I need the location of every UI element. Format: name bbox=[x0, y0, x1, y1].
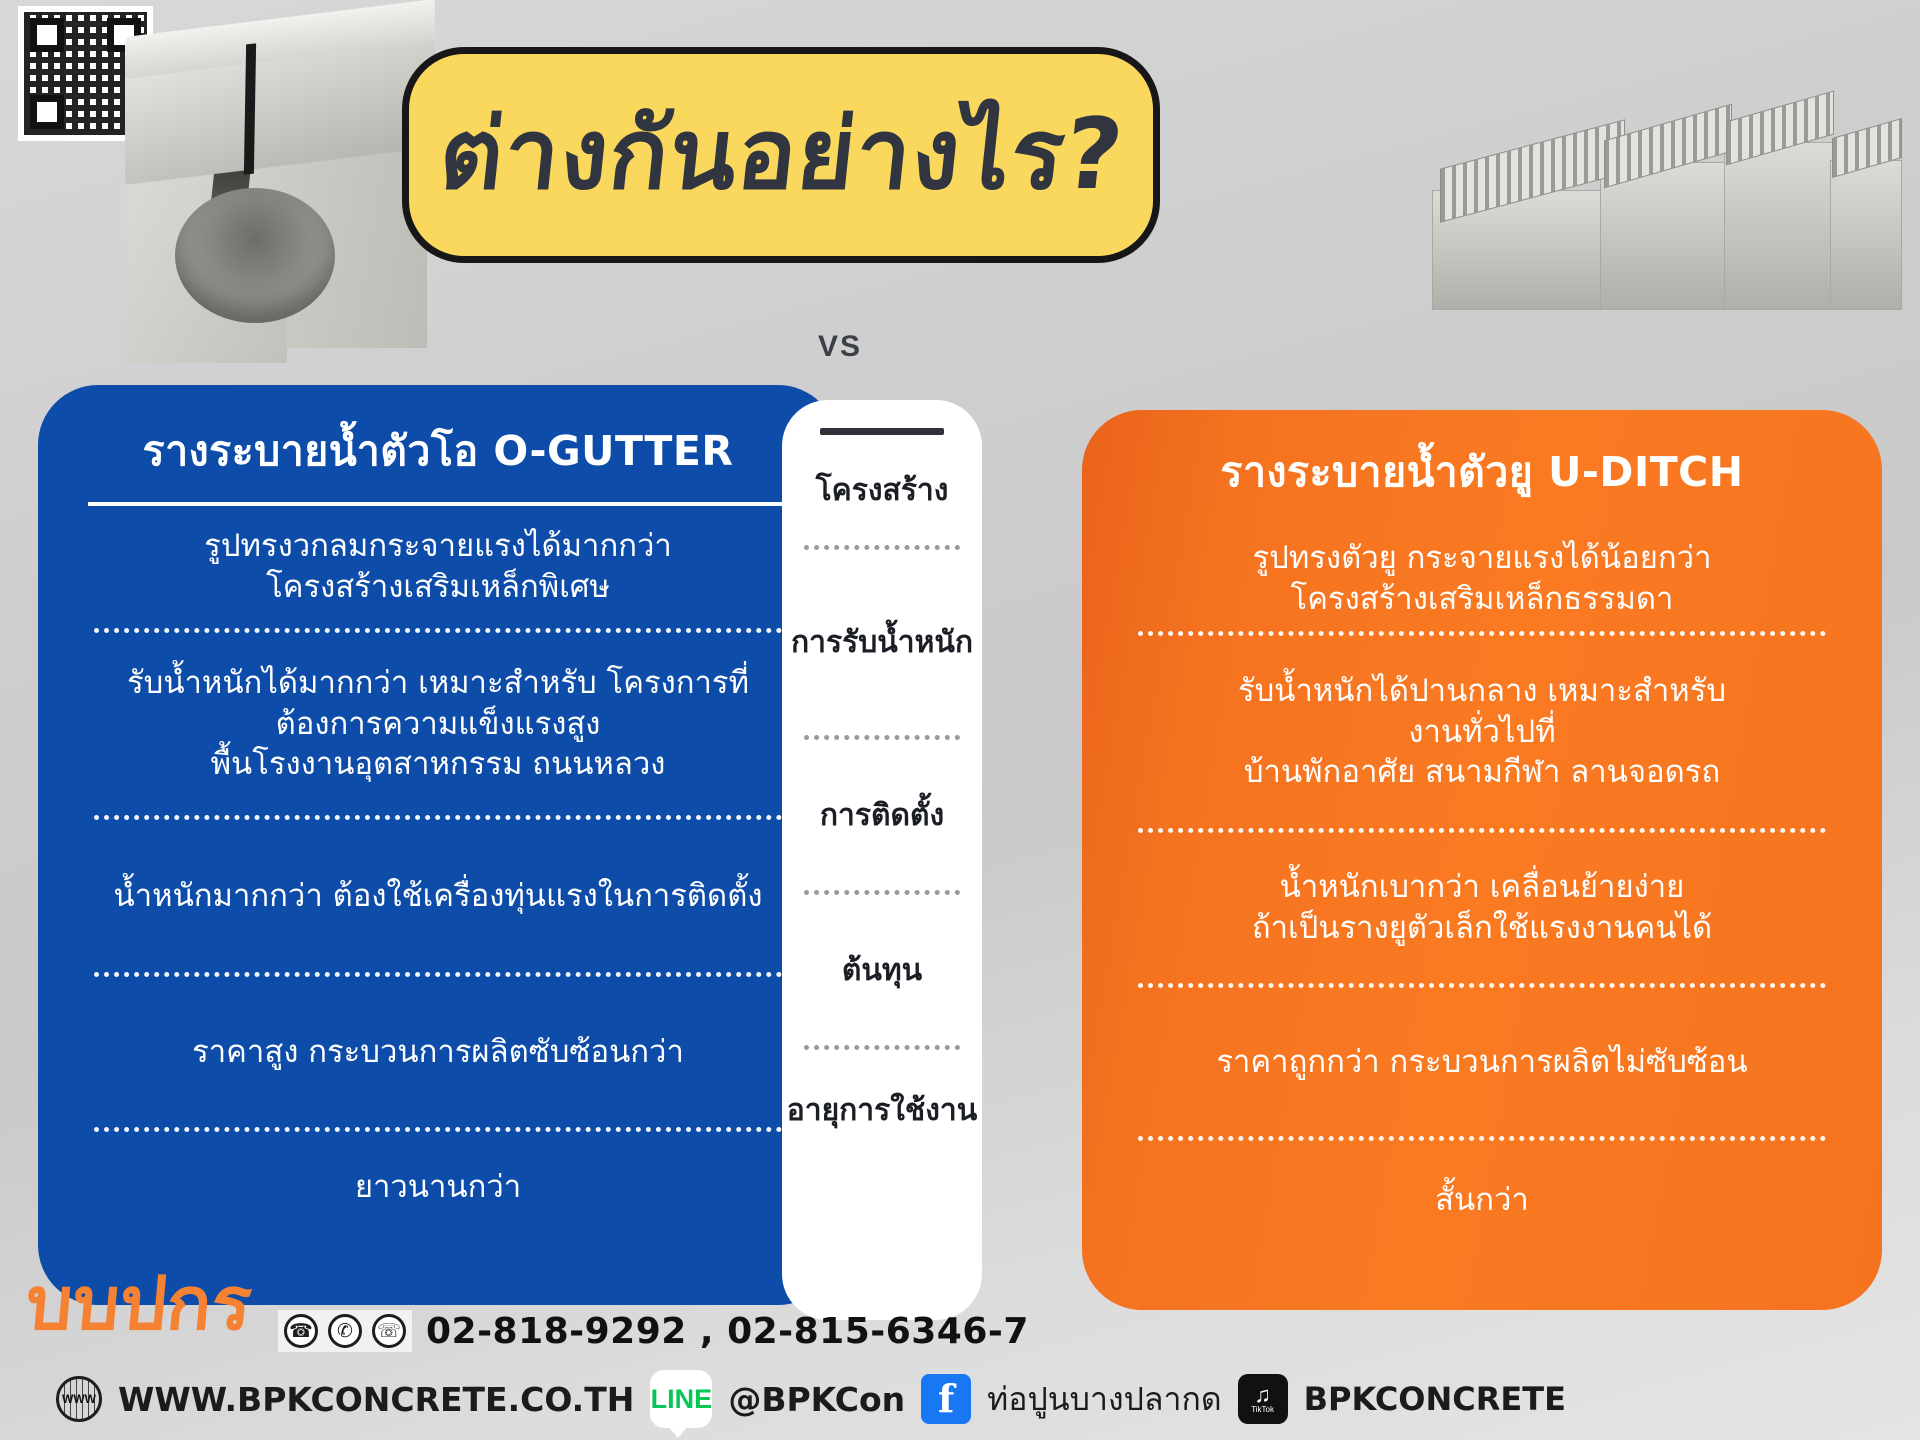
category-lifetime: อายุการใช้งาน bbox=[782, 1050, 982, 1170]
phone-icon: ☎ bbox=[284, 1314, 318, 1348]
qr-finder-bottom-left bbox=[30, 95, 64, 129]
facebook-page-name[interactable]: ท่อปูนบางปลากด bbox=[987, 1374, 1221, 1425]
u-ditch-panel: รางระบายน้ำตัวยู U-DITCH รูปทรงตัวยู กระ… bbox=[1082, 410, 1882, 1310]
u-ditch-row-load: รับน้ำหนักได้ปานกลาง เหมาะสำหรับ งานทั่ว… bbox=[1082, 636, 1882, 828]
u-ditch-row-cost: ราคาถูกกว่า กระบวนการผลิตไม่ซับซ้อน bbox=[1082, 988, 1882, 1136]
line-handle[interactable]: @BPKCon bbox=[728, 1380, 905, 1419]
row-line: ยาวนานกว่า bbox=[78, 1167, 798, 1208]
o-gutter-row-cost: ราคาสูง กระบวนการผลิตซับซ้อนกว่า bbox=[38, 977, 838, 1127]
o-gutter-row-structure: รูปทรงวกลมกระจายแรงได้มากกว่า โครงสร้างเ… bbox=[38, 506, 838, 628]
row-line: ต้องการความแข็งแรงสูง bbox=[78, 704, 798, 745]
footer-social-line: WWW WWW.BPKCONCRETE.CO.TH LINE @BPKCon f… bbox=[56, 1370, 1566, 1428]
facebook-icon[interactable]: f bbox=[921, 1374, 971, 1424]
o-gutter-product-photo bbox=[115, 8, 445, 398]
o-gutter-heading: รางระบายน้ำตัวโอ O-GUTTER bbox=[38, 385, 838, 484]
fax-icon: ☏ bbox=[372, 1314, 406, 1348]
category-load: การรับน้ำหนัก bbox=[782, 550, 982, 735]
website-url[interactable]: WWW.BPKCONCRETE.CO.TH bbox=[118, 1380, 634, 1419]
tiktok-icon-label: TikTok bbox=[1251, 1406, 1274, 1414]
category-column: โครงสร้าง การรับน้ำหนัก การติดตั้ง ต้นทุ… bbox=[782, 400, 982, 1320]
u-ditch-product-photo bbox=[1432, 60, 1902, 310]
row-line: ราคาสูง กระบวนการผลิตซับซ้อนกว่า bbox=[78, 1032, 798, 1073]
line-icon[interactable]: LINE bbox=[650, 1370, 712, 1428]
tiktok-icon[interactable]: ♫TikTok bbox=[1238, 1374, 1288, 1424]
o-gutter-rows: รูปทรงวกลมกระจายแรงได้มากกว่า โครงสร้างเ… bbox=[38, 506, 838, 1242]
category-structure: โครงสร้าง bbox=[782, 435, 982, 545]
row-line: น้ำหนักเบากว่า เคลื่อนย้ายง่าย bbox=[1122, 867, 1842, 908]
row-line: รูปทรงวกลมกระจายแรงได้มากกว่า bbox=[78, 526, 798, 567]
u-ditch-unit-3 bbox=[1724, 142, 1834, 310]
row-line: พื้นโรงงานอุตสาหกรรม ถนนหลวง bbox=[78, 744, 798, 785]
row-line: รูปทรงตัวยู กระจายแรงได้น้อยกว่า bbox=[1122, 538, 1842, 579]
u-ditch-unit-2 bbox=[1600, 162, 1730, 310]
o-gutter-row-lifetime: ยาวนานกว่า bbox=[38, 1132, 838, 1242]
row-line: รับน้ำหนักได้ปานกลาง เหมาะสำหรับ bbox=[1122, 671, 1842, 712]
qr-finder-top-left bbox=[30, 18, 64, 52]
phone-numbers[interactable]: 02-818-9292 , 02-815-6346-7 bbox=[426, 1311, 1029, 1352]
tiktok-account-name[interactable]: BPKCONCRETE bbox=[1304, 1380, 1566, 1418]
mobile-icon: ✆ bbox=[328, 1314, 362, 1348]
vs-label: VS bbox=[780, 330, 900, 364]
category-top-rule bbox=[820, 428, 944, 435]
category-installation: การติดตั้ง bbox=[782, 740, 982, 890]
u-ditch-row-structure: รูปทรงตัวยู กระจายแรงได้น้อยกว่า โครงสร้… bbox=[1082, 527, 1882, 631]
o-gutter-panel: รางระบายน้ำตัวโอ O-GUTTER รูปทรงวกลมกระจ… bbox=[38, 385, 838, 1305]
contact-icon-group: ☎ ✆ ☏ bbox=[278, 1310, 412, 1352]
o-gutter-round-opening bbox=[175, 188, 335, 323]
u-ditch-row-lifetime: สั้นกว่า bbox=[1082, 1141, 1882, 1259]
row-line: รับน้ำหนักได้มากกว่า เหมาะสำหรับ โครงการ… bbox=[78, 663, 798, 704]
row-line: โครงสร้างเสริมเหล็กธรรมดา bbox=[1122, 579, 1842, 620]
o-gutter-row-load: รับน้ำหนักได้มากกว่า เหมาะสำหรับ โครงการ… bbox=[38, 633, 838, 815]
u-ditch-unit-4 bbox=[1830, 160, 1902, 310]
row-line: งานทั่วไปที่ bbox=[1122, 712, 1842, 753]
o-gutter-row-install: น้ำหนักมากกว่า ต้องใช้เครื่องทุ่นแรงในกา… bbox=[38, 820, 838, 972]
u-ditch-row-install: น้ำหนักเบากว่า เคลื่อนย้ายง่าย ถ้าเป็นรา… bbox=[1082, 833, 1882, 983]
row-line: โครงสร้างเสริมเหล็กพิเศษ bbox=[78, 567, 798, 608]
row-line: สั้นกว่า bbox=[1122, 1180, 1842, 1221]
row-line: ถ้าเป็นรางยูตัวเล็กใช้แรงงานคนได้ bbox=[1122, 908, 1842, 949]
row-line: ราคาถูกกว่า กระบวนการผลิตไม่ซับซ้อน bbox=[1122, 1042, 1842, 1083]
main-title-banner: ต่างกันอย่างไร? bbox=[402, 47, 1160, 263]
u-ditch-rows: รูปทรงตัวยู กระจายแรงได้น้อยกว่า โครงสร้… bbox=[1082, 527, 1882, 1259]
footer: บบปกร ☎ ✆ ☏ 02-818-9292 , 02-815-6346-7 … bbox=[0, 1265, 1920, 1440]
page-title: ต่างกันอย่างไร? bbox=[434, 106, 1127, 204]
row-line: บ้านพักอาศัย สนามกีฬา ลานจอดรถ bbox=[1122, 752, 1842, 793]
company-logo: บบปกร bbox=[21, 1244, 257, 1362]
row-line: น้ำหนักมากกว่า ต้องใช้เครื่องทุ่นแรงในกา… bbox=[78, 876, 798, 917]
u-ditch-heading: รางระบายน้ำตัวยู U-DITCH bbox=[1082, 410, 1882, 505]
footer-phone-line: ☎ ✆ ☏ 02-818-9292 , 02-815-6346-7 bbox=[278, 1310, 1029, 1352]
category-cost: ต้นทุน bbox=[782, 895, 982, 1045]
globe-icon: WWW bbox=[56, 1376, 102, 1422]
